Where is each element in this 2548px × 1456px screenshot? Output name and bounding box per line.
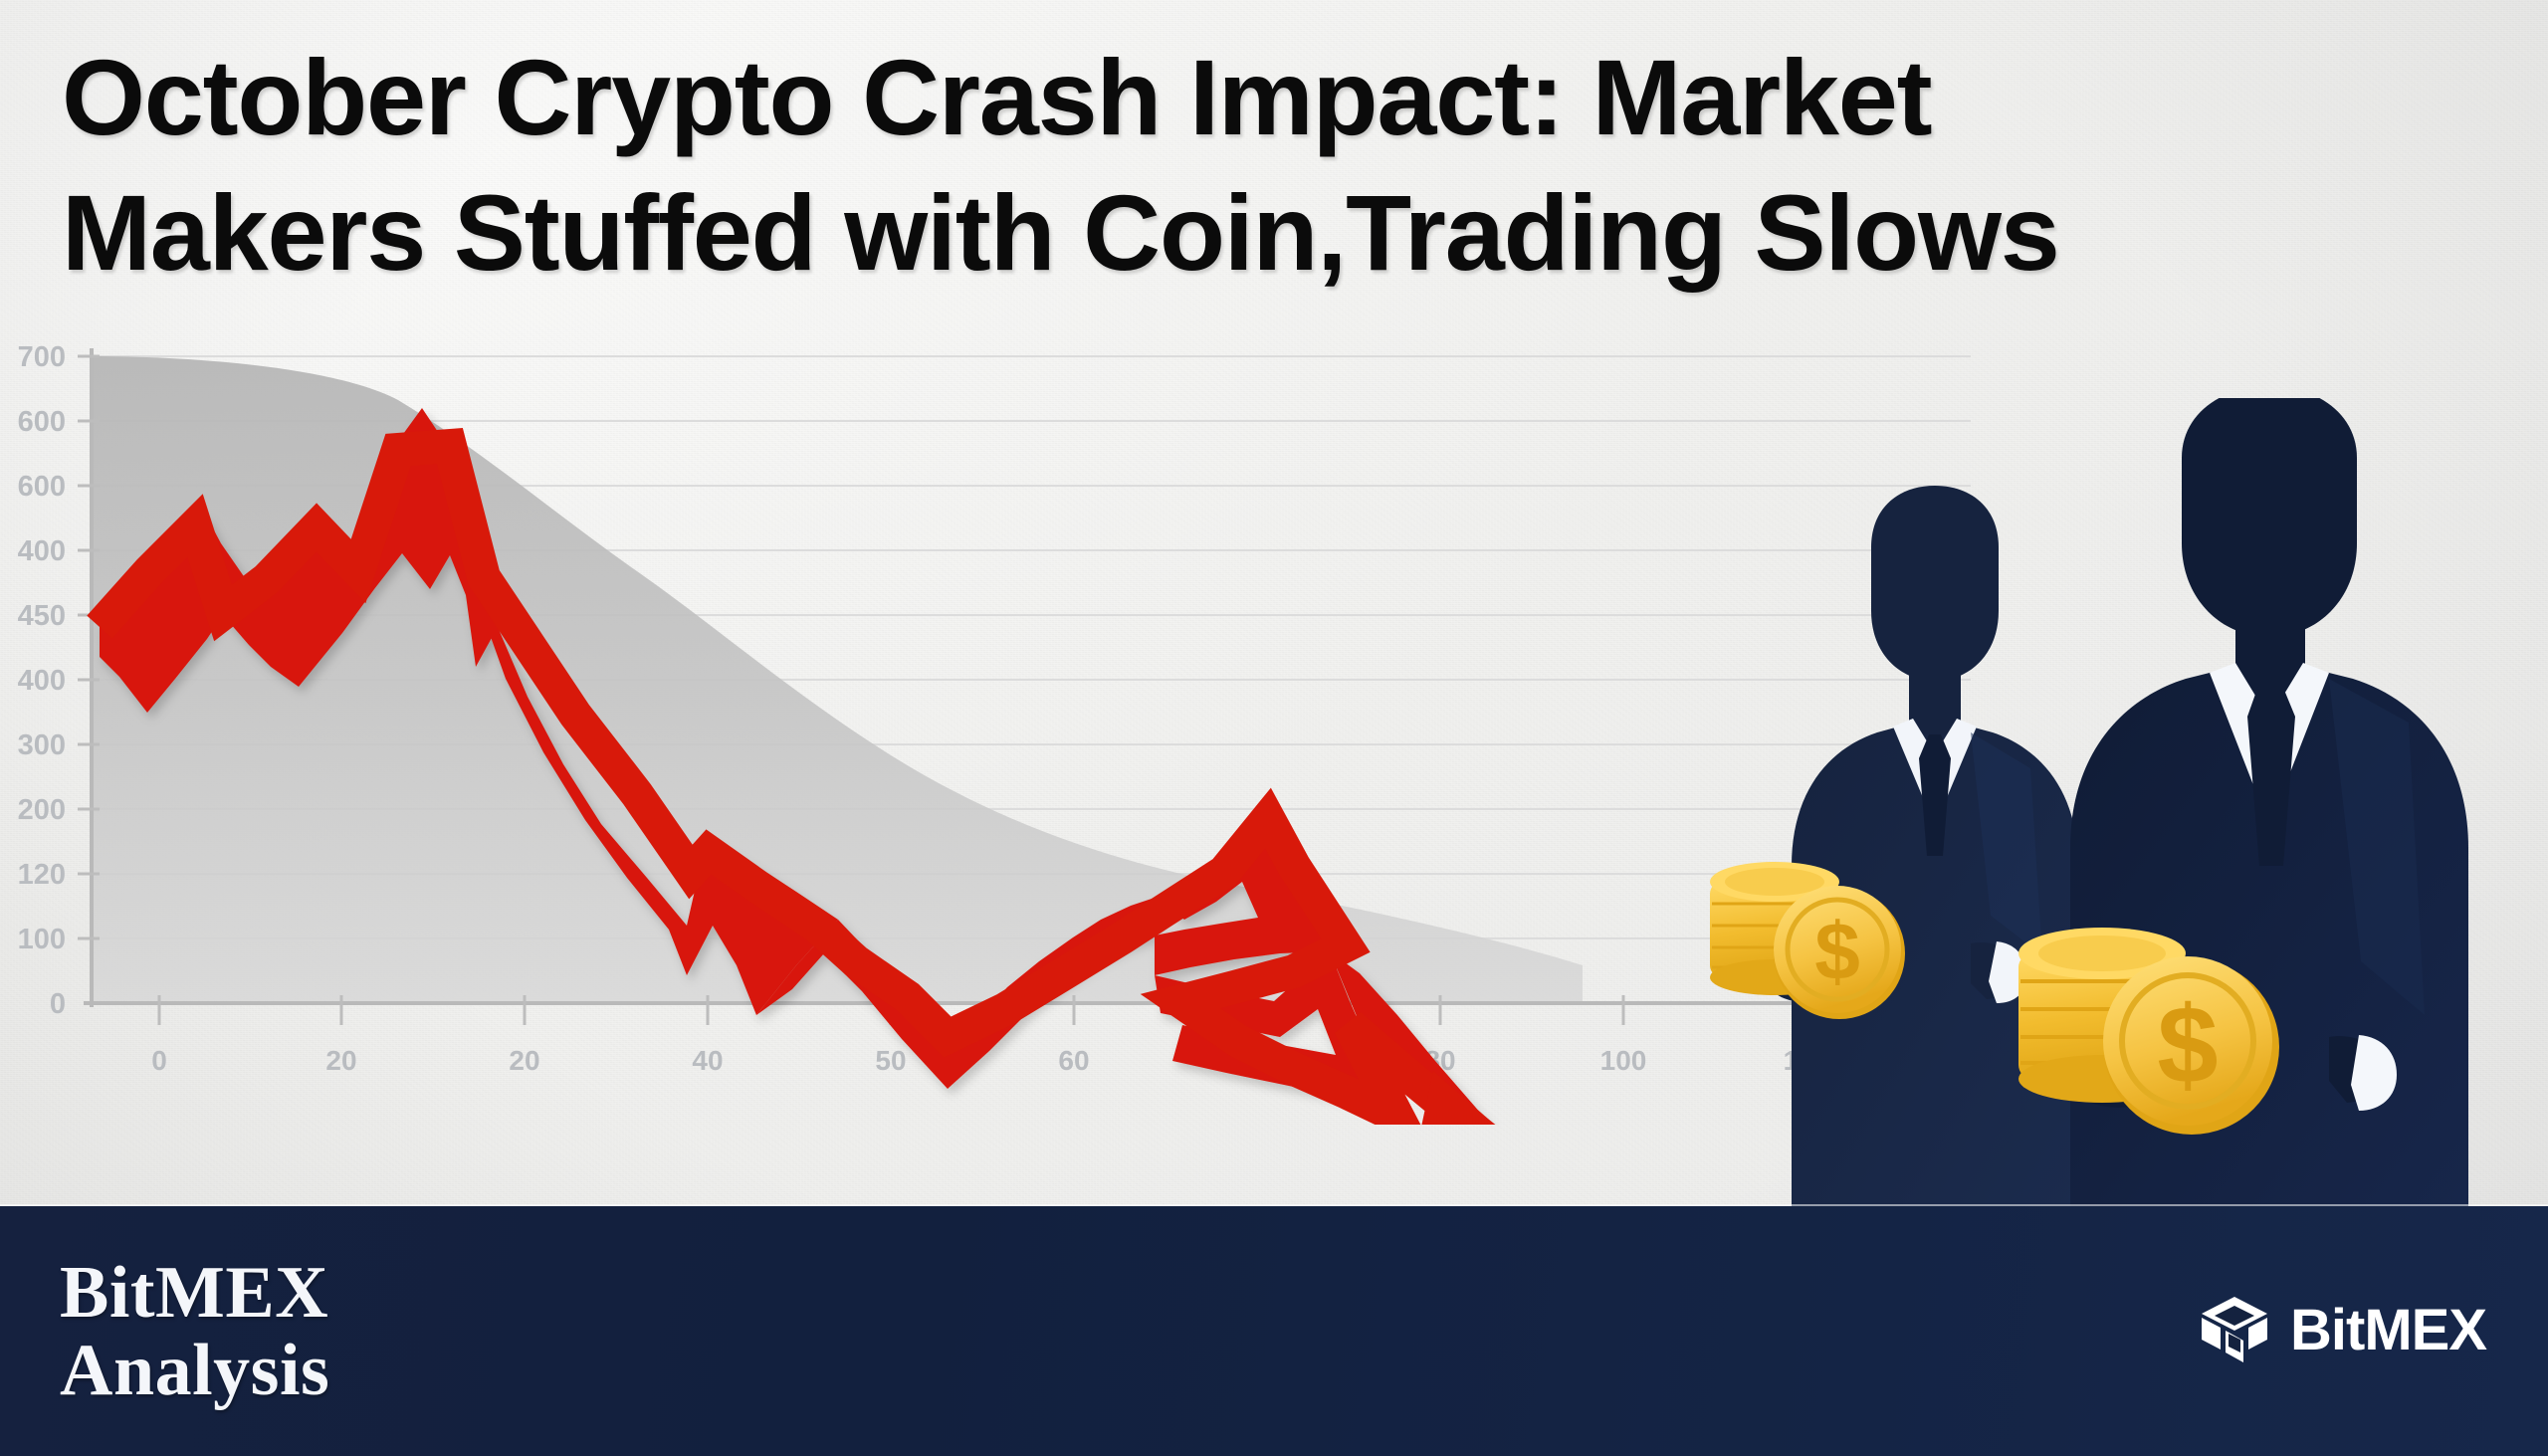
- bitmex-logo-text: BitMEX: [2290, 1297, 2486, 1363]
- y-tick-label: 400: [18, 535, 66, 567]
- x-tick-label: 100: [1600, 1045, 1647, 1076]
- x-tick-label: 20: [325, 1045, 356, 1076]
- poster-canvas: October Crypto Crash Impact: Market Make…: [0, 0, 2548, 1456]
- x-tick-label: 20: [509, 1045, 539, 1076]
- y-tick-label: 450: [18, 600, 66, 632]
- y-tick-label: 0: [50, 988, 66, 1020]
- businessmen-svg: $: [1672, 398, 2548, 1206]
- x-tick-label: 40: [692, 1045, 723, 1076]
- svg-text:$: $: [2157, 984, 2218, 1107]
- footer-bar: BitMEX Analysis BitMEX: [0, 1206, 2548, 1456]
- bitmex-cube-icon: [2199, 1294, 2270, 1365]
- svg-text:$: $: [1814, 907, 1860, 997]
- y-tick-label: 120: [18, 859, 66, 891]
- y-tick-label: 300: [18, 729, 66, 761]
- y-tick-label: 600: [18, 406, 66, 438]
- y-tick-label: 700: [18, 341, 66, 373]
- y-tick-label: 600: [18, 471, 66, 503]
- businessmen-illustration: $: [1672, 398, 2548, 1206]
- x-tick-label: 0: [151, 1045, 167, 1076]
- bitmex-logo[interactable]: BitMEX: [2199, 1294, 2486, 1365]
- y-tick-label: 400: [18, 665, 66, 697]
- businessman-back: [1762, 486, 2078, 1206]
- x-tick-label: 50: [875, 1045, 906, 1076]
- x-tick-label: 60: [1058, 1045, 1089, 1076]
- y-tick-label: 200: [18, 794, 66, 826]
- page-title: October Crypto Crash Impact: Market Make…: [62, 30, 2371, 301]
- footer-brand-title: BitMEX Analysis: [60, 1254, 329, 1410]
- y-tick-label: 100: [18, 924, 66, 955]
